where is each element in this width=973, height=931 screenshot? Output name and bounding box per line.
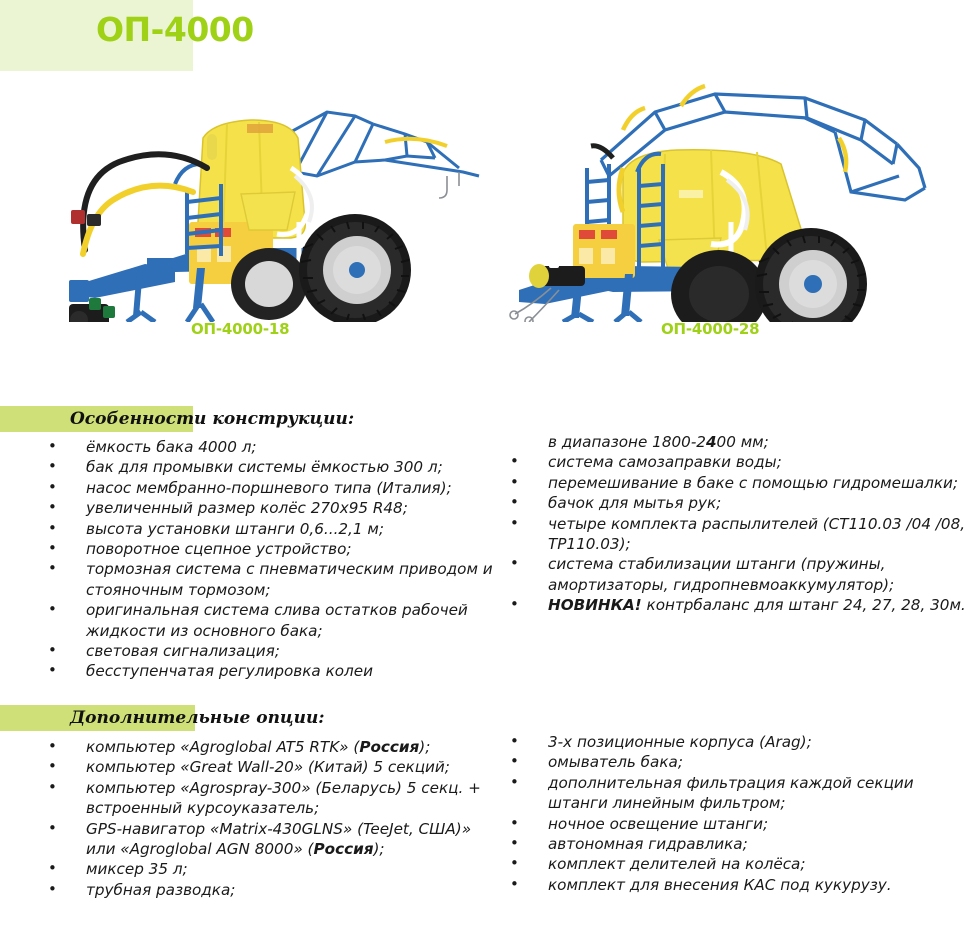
- list-item: ёмкость бака 4000 л;: [38, 437, 500, 457]
- list-item: насос мембранно-поршневого типа (Италия)…: [38, 478, 500, 498]
- sprayer-illustration-28: [505, 72, 955, 322]
- bullet-list: в диапазоне 1800-2400 мм;система самозап…: [500, 432, 970, 616]
- list-item: перемешивание в баке с помощью гидромеша…: [500, 473, 970, 493]
- section-title-options: Дополнительные опции:: [70, 707, 325, 729]
- list-item: четыре комплекта распылителей (СТ110.03 …: [500, 514, 970, 555]
- caption-op-4000-28: ОП-4000-28: [661, 320, 759, 338]
- bullet-list: компьютер «Agroglobal AT5 RTK» (Россия);…: [38, 737, 500, 900]
- list-item: поворотное сцепное устройство;: [38, 539, 500, 559]
- product-photos: [0, 72, 973, 322]
- list-item: автономная гидравлика;: [500, 834, 970, 854]
- section-title-features: Особенности конструкции:: [70, 408, 354, 430]
- bullet-list: ёмкость бака 4000 л;бак для промывки сис…: [38, 437, 500, 682]
- section-header-options: Дополнительные опции:: [0, 705, 195, 731]
- list-item: миксер 35 л;: [38, 859, 500, 879]
- list-item: тормозная система с пневматическим приво…: [38, 559, 500, 600]
- list-item: бесступенчатая регулировка колеи: [38, 661, 500, 681]
- list-item: бачок для мытья рук;: [500, 493, 970, 513]
- list-item: компьютер «Agrospray-300» (Беларусь) 5 с…: [38, 778, 500, 819]
- list-item: оригинальная система слива остатков рабо…: [38, 600, 500, 641]
- list-item: увеличенный размер колёс 270х95 R48;: [38, 498, 500, 518]
- list-item: НОВИНКА! контрбаланс для штанг 24, 27, 2…: [500, 595, 970, 615]
- list-item: GPS-навигатор «Matrix-430GLNS» (TeeJet, …: [38, 819, 500, 860]
- options-list-right: 3-х позиционные корпуса (Arag);омыватель…: [500, 732, 970, 895]
- list-item: в диапазоне 1800-2400 мм;: [500, 432, 970, 452]
- list-item: 3-х позиционные корпуса (Arag);: [500, 732, 970, 752]
- list-item: трубная разводка;: [38, 880, 500, 900]
- list-item: световая сигнализация;: [38, 641, 500, 661]
- features-list-left: ёмкость бака 4000 л;бак для промывки сис…: [38, 437, 500, 682]
- features-list-right: в диапазоне 1800-2400 мм;система самозап…: [500, 432, 970, 616]
- list-item: омыватель бака;: [500, 752, 970, 772]
- list-item: ночное освещение штанги;: [500, 814, 970, 834]
- list-item: компьютер «Great Wall-20» (Китай) 5 секц…: [38, 757, 500, 777]
- page-title: ОП-4000: [96, 13, 254, 46]
- list-item: система стабилизации штанги (пружины, ам…: [500, 554, 970, 595]
- section-header-features: Особенности конструкции:: [0, 406, 193, 432]
- list-item: комплект делителей на колёса;: [500, 854, 970, 874]
- list-item: комплект для внесения КАС под кукурузу.: [500, 875, 970, 895]
- product-photo-op-4000-28: [505, 72, 955, 322]
- list-item: компьютер «Agroglobal AT5 RTK» (Россия);: [38, 737, 500, 757]
- caption-op-4000-18: ОП-4000-18: [191, 320, 289, 338]
- photo-captions: ОП-4000-18 ОП-4000-28: [0, 320, 973, 346]
- list-item: бак для промывки системы ёмкостью 300 л;: [38, 457, 500, 477]
- list-item: высота установки штанги 0,6...2,1 м;: [38, 519, 500, 539]
- list-item: дополнительная фильтрация каждой секции …: [500, 773, 970, 814]
- sprayer-illustration-18: [55, 72, 485, 322]
- product-photo-op-4000-18: [55, 72, 485, 322]
- options-list-left: компьютер «Agroglobal AT5 RTK» (Россия);…: [38, 737, 500, 900]
- list-item: система самозаправки воды;: [500, 452, 970, 472]
- title-band: ОП-4000: [0, 0, 193, 71]
- bullet-list: 3-х позиционные корпуса (Arag);омыватель…: [500, 732, 970, 895]
